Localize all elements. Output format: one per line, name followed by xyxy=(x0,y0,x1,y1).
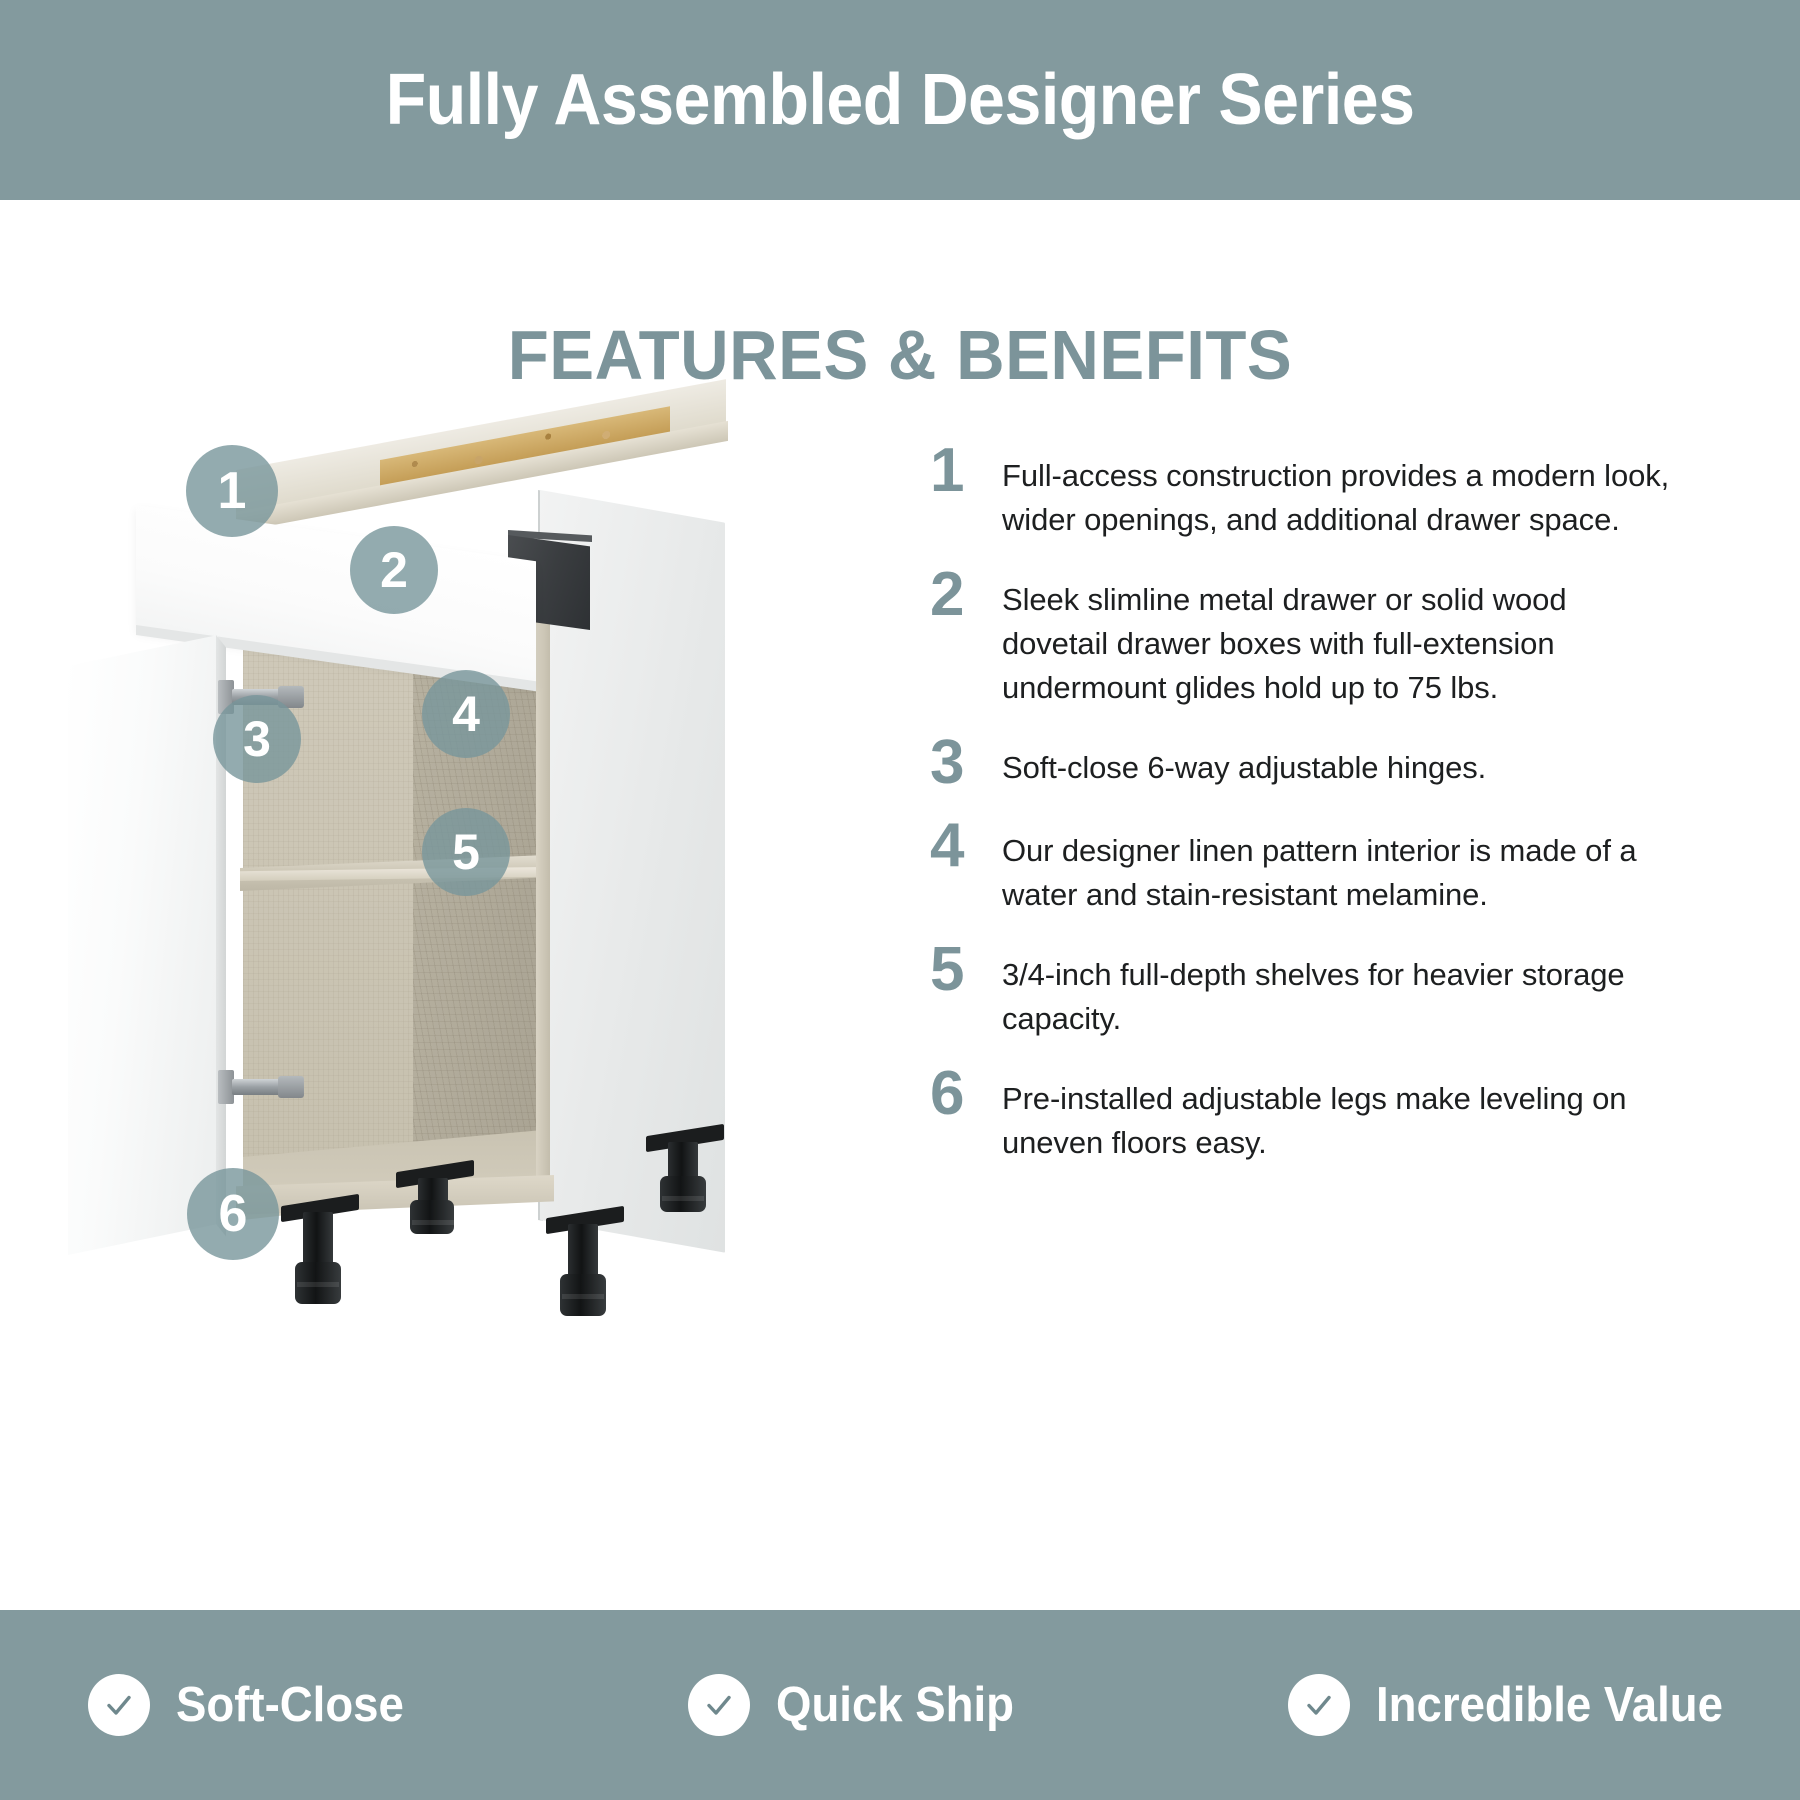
main-content: 1 2 3 4 5 6 1 Full-access construction p… xyxy=(0,430,1800,1550)
hinge-cup xyxy=(278,1076,304,1098)
leg-foot xyxy=(410,1200,454,1234)
footer-item-incredible-value: Incredible Value xyxy=(1200,1674,1800,1736)
section-heading: FEATURES & BENEFITS xyxy=(36,315,1764,395)
footer-item-quick-ship: Quick Ship xyxy=(600,1674,1200,1736)
feature-text-5: 3/4-inch full-depth shelves for heavier … xyxy=(1002,939,1670,1041)
check-circle-icon xyxy=(1288,1674,1350,1736)
feature-number-6: 6 xyxy=(930,1063,1002,1124)
check-circle-icon xyxy=(88,1674,150,1736)
footer-label-quick-ship: Quick Ship xyxy=(776,1677,1014,1733)
feature-number-4: 4 xyxy=(930,815,1002,876)
feature-text-6: Pre-installed adjustable legs make level… xyxy=(1002,1063,1670,1165)
footer-bar: Soft-Close Quick Ship Incredible Value xyxy=(0,1610,1800,1800)
callout-badge-2[interactable]: 2 xyxy=(350,526,438,614)
footer-label-soft-close: Soft-Close xyxy=(176,1677,404,1733)
leg-foot xyxy=(660,1176,706,1212)
callout-badge-5[interactable]: 5 xyxy=(422,808,510,896)
callout-badge-4[interactable]: 4 xyxy=(422,670,510,758)
check-circle-icon xyxy=(688,1674,750,1736)
feature-item-3: 3 Soft-close 6-way adjustable hinges. xyxy=(930,732,1670,793)
feature-item-2: 2 Sleek slimline metal drawer or solid w… xyxy=(930,564,1670,710)
feature-text-4: Our designer linen pattern interior is m… xyxy=(1002,815,1670,917)
feature-item-6: 6 Pre-installed adjustable legs make lev… xyxy=(930,1063,1670,1165)
feature-item-4: 4 Our designer linen pattern interior is… xyxy=(930,815,1670,917)
callout-badge-1[interactable]: 1 xyxy=(186,445,278,537)
feature-text-1: Full-access construction provides a mode… xyxy=(1002,440,1670,542)
cabinet-door xyxy=(68,635,218,1255)
leg-post xyxy=(568,1224,598,1280)
leg-foot xyxy=(295,1262,341,1304)
callout-badge-6[interactable]: 6 xyxy=(187,1168,279,1260)
product-feature-infographic: Fully Assembled Designer Series FEATURES… xyxy=(0,0,1800,1800)
feature-number-2: 2 xyxy=(930,564,1002,625)
soft-close-hinge-bottom xyxy=(218,1070,308,1104)
page-title: Fully Assembled Designer Series xyxy=(386,59,1415,141)
feature-item-1: 1 Full-access construction provides a mo… xyxy=(930,440,1670,542)
cabinet-illustration: 1 2 3 4 5 6 xyxy=(40,430,850,1430)
feature-text-3: Soft-close 6-way adjustable hinges. xyxy=(1002,732,1670,790)
feature-number-3: 3 xyxy=(930,732,1002,793)
feature-number-1: 1 xyxy=(930,440,1002,501)
features-list: 1 Full-access construction provides a mo… xyxy=(930,440,1670,1187)
feature-number-5: 5 xyxy=(930,939,1002,1000)
leg-foot xyxy=(560,1274,606,1316)
feature-item-5: 5 3/4-inch full-depth shelves for heavie… xyxy=(930,939,1670,1041)
footer-item-soft-close: Soft-Close xyxy=(0,1674,600,1736)
carcass-front-edge-band xyxy=(536,565,550,1195)
feature-text-2: Sleek slimline metal drawer or solid woo… xyxy=(1002,564,1670,710)
footer-label-incredible-value: Incredible Value xyxy=(1376,1677,1723,1733)
header-bar: Fully Assembled Designer Series xyxy=(0,0,1800,200)
callout-badge-3[interactable]: 3 xyxy=(213,695,301,783)
leg-post xyxy=(303,1212,333,1268)
